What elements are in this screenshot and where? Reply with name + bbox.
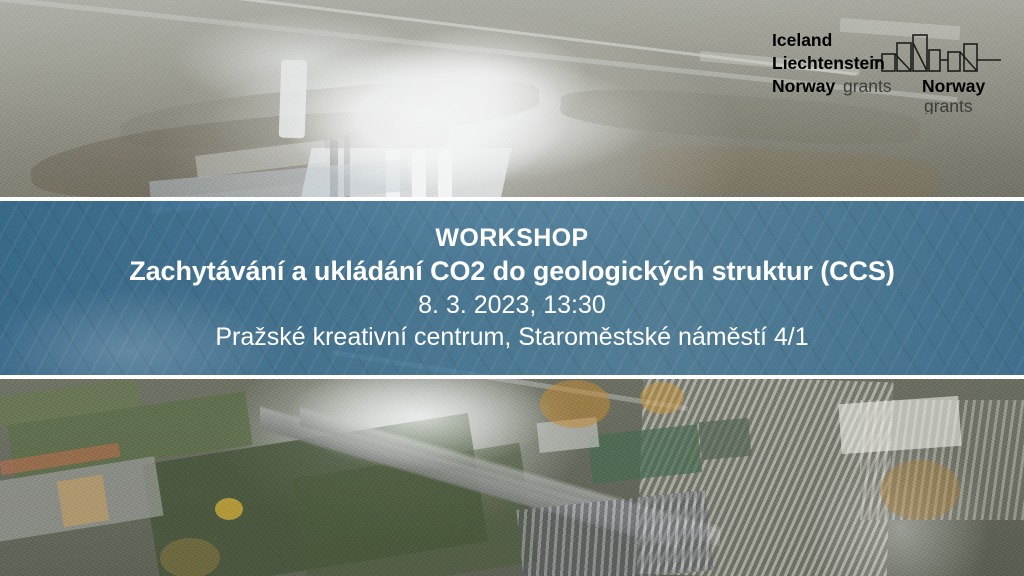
logo-line-grants: grants xyxy=(843,76,892,96)
event-info-banner: WORKSHOP Zachytávání a ukládání CO2 do g… xyxy=(0,197,1024,379)
event-title: Zachytávání a ukládání CO2 do geologický… xyxy=(0,256,1024,287)
logo-right-norway: Norway xyxy=(922,76,985,96)
grants-mark-icon xyxy=(872,35,1001,71)
logo-line-liechtenstein: Liechtenstein xyxy=(772,53,885,73)
event-poster: Iceland Liechtenstein Norway grants Norw… xyxy=(0,0,1024,576)
eea-norway-grants-logo: Iceland Liechtenstein Norway grants Norw… xyxy=(772,22,1002,114)
logo-line-norway: Norway xyxy=(772,76,835,96)
event-venue: Pražské kreativní centrum, Staroměstské … xyxy=(0,323,1024,352)
logo-line-iceland: Iceland xyxy=(772,30,832,50)
event-eyebrow: WORKSHOP xyxy=(0,224,1024,253)
logo-right-grants: grants xyxy=(924,96,973,114)
banner-text-block: WORKSHOP Zachytávání a ukládání CO2 do g… xyxy=(0,224,1024,352)
event-datetime: 8. 3. 2023, 13:30 xyxy=(0,291,1024,320)
